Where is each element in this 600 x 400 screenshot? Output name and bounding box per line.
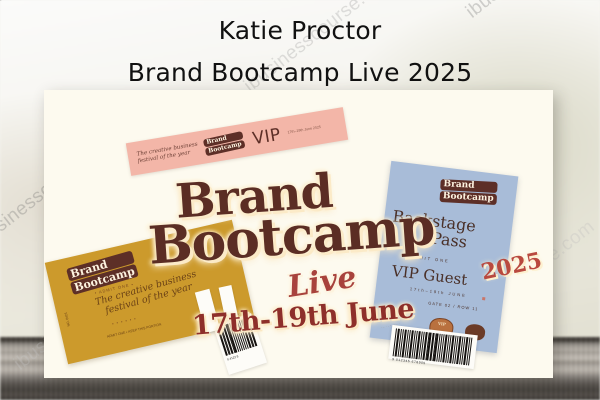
vip-ticket-tagline: The creative business festival of the ye… — [136, 142, 199, 165]
brand-bootcamp-wordmark: Brand Bootcamp Live 2025 — [148, 162, 456, 303]
instructor-name: Katie Proctor — [0, 16, 600, 45]
vip-label: VIP — [251, 124, 282, 148]
course-title: Brand Bootcamp Live 2025 — [0, 58, 600, 87]
backstage-accent-square — [482, 297, 485, 300]
gold-ticket-divider-bottom: • • • • • • — [112, 316, 137, 326]
brand-bootcamp-logo: Brand Bootcamp — [203, 131, 246, 156]
backstage-meta-seat: GATE 02 / ROW 11 — [428, 300, 479, 312]
poster-card: The creative business festival of the ye… — [44, 90, 553, 378]
vip-ticket-micro-text: 17th–19th June 2025 — [287, 125, 321, 135]
gold-ticket-side-text: NO. 0421 — [64, 312, 71, 327]
vip-badge-text: VIP — [431, 318, 454, 328]
wordmark-line2: Bootcamp — [147, 203, 436, 271]
screenshot-stage: ibusinesscourse.com ibusinesscourse.com … — [0, 0, 600, 400]
